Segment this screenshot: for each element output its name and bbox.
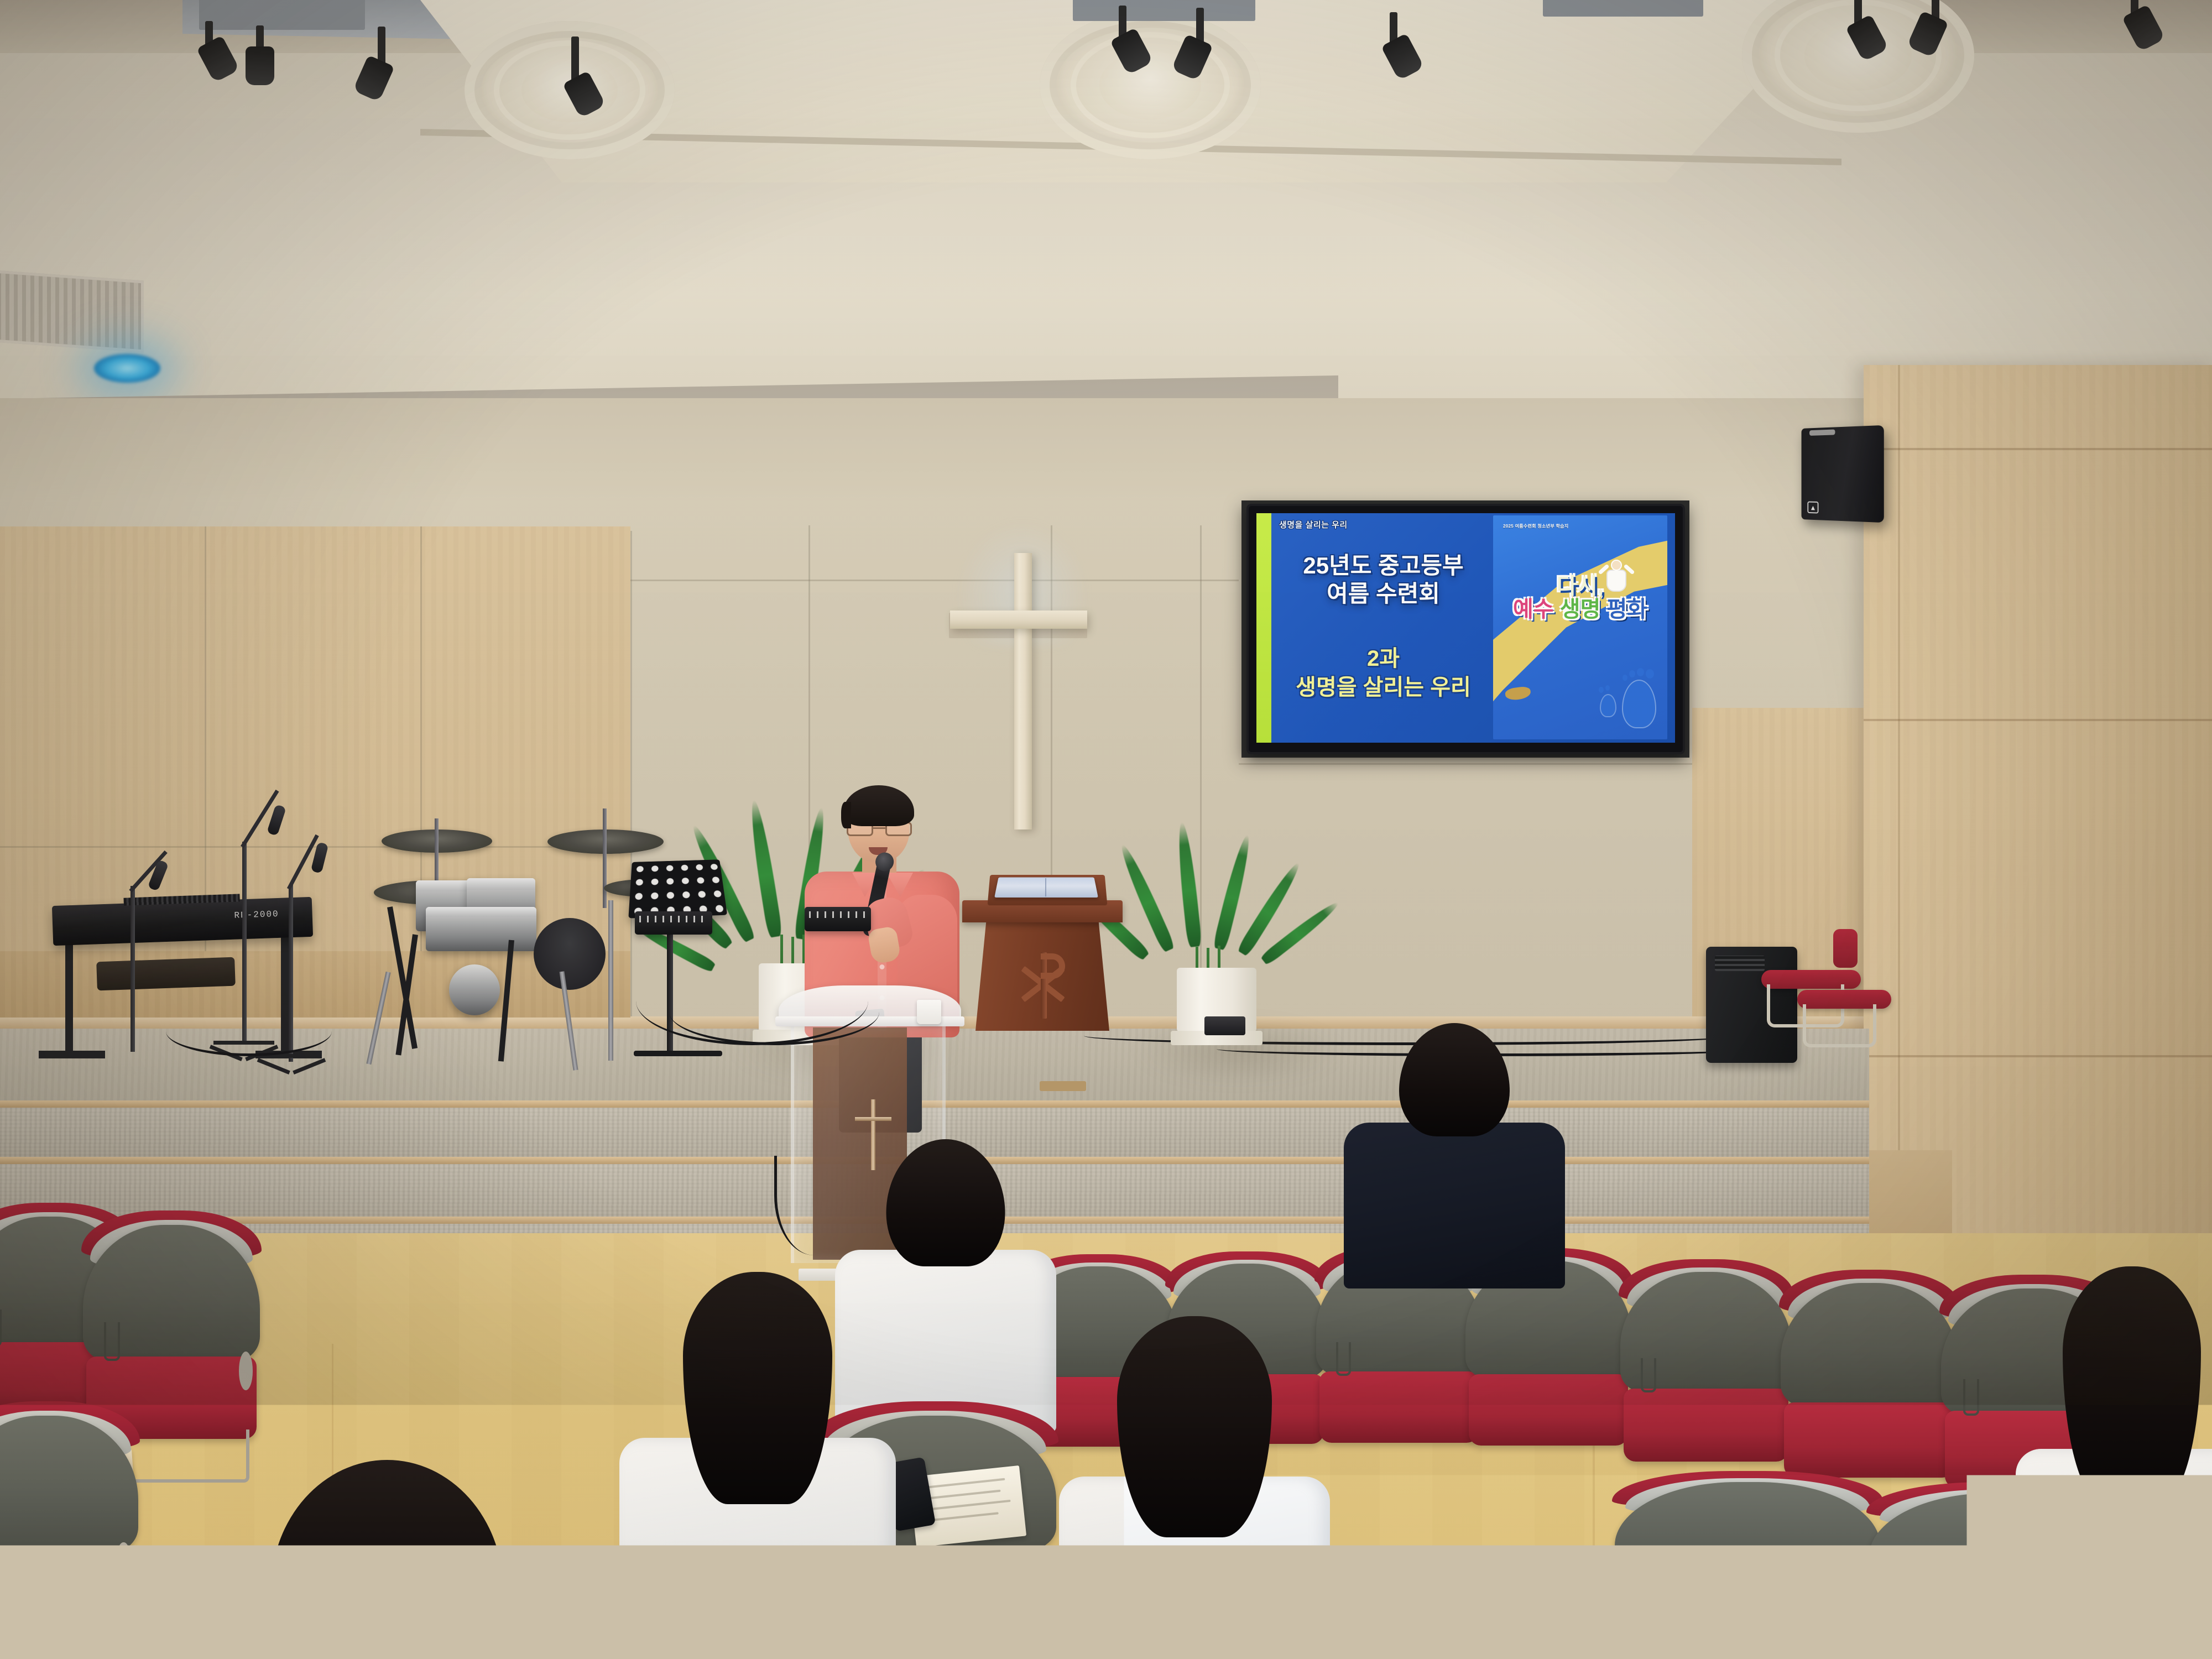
track-spotlight — [365, 27, 398, 109]
audience-person-top — [1344, 1123, 1565, 1288]
slide-title-line2: 여름 수련회 — [1327, 581, 1440, 607]
book-title-word2: 생명 — [1560, 597, 1601, 622]
floor-power-box — [1204, 1016, 1245, 1035]
cymbal-rod — [603, 808, 607, 908]
footprint-toe — [1623, 675, 1627, 681]
book-title-line1: 다시, — [1499, 575, 1662, 597]
chair-seat — [1620, 1580, 1875, 1642]
spotlight-head-icon — [246, 46, 274, 85]
audio-interface[interactable] — [805, 907, 871, 931]
footprint-sole-small — [1600, 694, 1616, 717]
footprint-illustration-icon — [1598, 664, 1658, 736]
microphone-icon — [148, 859, 169, 891]
chair-seat — [1319, 1371, 1479, 1443]
chair-hook — [1647, 1555, 1671, 1584]
book-title-word3: 평화 — [1606, 597, 1647, 622]
slide-book-cover-image: 2025 여름수련회 청소년부 학습지 다시, 예수 생명 평화 — [1493, 515, 1667, 739]
speaker-brand-logo-icon: ▲ — [1807, 502, 1818, 514]
audience-person-hair — [886, 1139, 1005, 1266]
ceiling-circular-recess-2 — [1040, 11, 1261, 159]
slide-lesson-number: 2과 — [1367, 646, 1400, 671]
footprint-toe-small — [1605, 685, 1610, 691]
chair-hook — [1963, 1379, 1980, 1416]
music-stand-base — [634, 1051, 722, 1056]
slide-lesson-title: 생명을 살리는 우리 — [1296, 675, 1471, 700]
audience-person-hair — [683, 1272, 832, 1504]
chair-pivot-knob — [239, 1352, 253, 1390]
architectural-column — [1864, 365, 2212, 1261]
open-bible — [994, 877, 1098, 898]
palm-frond — [1175, 822, 1202, 947]
track-spotlight — [243, 25, 276, 97]
slide-title: 25년도 중고등부 여름 수련회 — [1279, 551, 1493, 608]
communion-table-base — [975, 921, 1109, 1031]
mic-stand-tripod — [261, 1054, 322, 1071]
palm-frond — [747, 799, 783, 938]
microphone-stand-short — [100, 846, 166, 1056]
instrument-cable — [166, 1006, 332, 1056]
footprint-toe — [1646, 669, 1654, 679]
tee-graphic-text: THE CHOICE — [644, 1582, 872, 1621]
chair-hook — [0, 1310, 2, 1347]
track-spotlight — [1183, 8, 1217, 102]
audience-person-hair — [1117, 1316, 1272, 1537]
folding-chair — [1869, 1493, 2135, 1659]
track-light-mount-plate — [1073, 0, 1255, 21]
audience-person-the-choice-tee: THE CHOICE — [614, 1272, 901, 1659]
mixer-knob-row — [639, 916, 708, 922]
communion-table — [962, 852, 1123, 1045]
floor-tom — [426, 907, 536, 951]
mic-stand-pole — [131, 886, 135, 1052]
folding-chair — [1620, 1272, 1792, 1488]
chair-legs — [0, 1620, 127, 1659]
pulpit-paper-cup — [917, 1000, 941, 1024]
column-seam — [1864, 719, 2212, 721]
chi-rho-icon — [1012, 952, 1073, 1019]
audio-mixer[interactable] — [635, 911, 712, 935]
rho-loop — [1041, 953, 1065, 979]
cymbal-stand-leg — [608, 900, 613, 1061]
track-spotlight — [1106, 6, 1139, 94]
folding-chair — [1781, 1283, 1958, 1504]
wall-mounted-loudspeaker: ▲ — [1802, 425, 1884, 523]
stage-folding-chair — [1797, 971, 1891, 1076]
slide-eyebrow-label: 생명을 살리는 우리 — [1279, 519, 1493, 530]
column-seam-vertical — [1898, 365, 1900, 1261]
ceiling-air-vent — [0, 270, 144, 353]
floor-shadow — [111, 1593, 498, 1659]
slide-lesson-block: 2과 생명을 살리는 우리 — [1279, 644, 1493, 702]
drum-rim — [426, 907, 536, 917]
track-spotlight — [1377, 12, 1410, 95]
potted-palm-right — [1134, 791, 1300, 1045]
speaker-hair — [843, 785, 914, 826]
music-stand-plate — [628, 859, 727, 918]
track-spotlight — [1841, 0, 1875, 80]
column-seam — [1864, 448, 2212, 450]
column-seam — [1864, 1055, 2212, 1057]
interface-knob-row — [809, 911, 867, 918]
chair-frame — [1803, 1004, 1876, 1047]
electronic-drum-pad — [534, 918, 606, 990]
chair-seat — [0, 1547, 134, 1630]
audience-person-back-center — [1338, 1023, 1571, 1283]
practice-pad — [449, 964, 500, 1015]
chair-seat — [1624, 1389, 1788, 1462]
slide-left-panel: 생명을 살리는 우리 25년도 중고등부 여름 수련회 2과 생명을 살리는 우… — [1271, 513, 1493, 743]
book-cover-signature-mark — [1505, 686, 1532, 701]
pulpit-cross-horizontal — [855, 1117, 891, 1121]
audience-person-hair — [2063, 1266, 2201, 1504]
track-spotlight — [1919, 0, 1952, 77]
chair-hook — [1336, 1342, 1351, 1376]
case-vents — [1715, 956, 1765, 971]
chair-hook — [104, 1322, 120, 1361]
chair-backrest — [1833, 929, 1858, 968]
church-sanctuary-photo: 생명을 살리는 우리 25년도 중고등부 여름 수련회 2과 생명을 살리는 우… — [0, 0, 2212, 1659]
chair-pivot-knob — [116, 1542, 131, 1581]
audience-person-hair — [1399, 1023, 1510, 1136]
chair-hook — [1641, 1358, 1656, 1392]
footprint-sole — [1622, 680, 1656, 728]
track-spotlight — [559, 36, 592, 125]
cross-vertical-beam — [1014, 553, 1032, 830]
glasses-bridge — [873, 827, 885, 829]
book-title-word1: 예수 — [1513, 597, 1554, 622]
instrument-cable — [669, 979, 879, 1045]
folding-chair — [1316, 1258, 1482, 1468]
wall-seam-horizontal — [1239, 763, 1725, 765]
book-title-line2: 예수 생명 평화 — [1499, 598, 1662, 620]
shirt-button — [880, 964, 885, 969]
slide-title-line1: 25년도 중고등부 — [1303, 552, 1463, 578]
cymbal-rod — [435, 818, 439, 890]
cross-horizontal-beam — [950, 611, 1087, 629]
presentation-display[interactable]: 생명을 살리는 우리 25년도 중고등부 여름 수련회 2과 생명을 살리는 우… — [1256, 513, 1675, 743]
book-cover-title: 다시, 예수 생명 평화 — [1499, 575, 1662, 620]
track-light-mount-plate — [1543, 0, 1703, 17]
footprint-toe — [1637, 668, 1644, 676]
chair-seat — [1469, 1374, 1628, 1446]
vent-status-led-icon — [94, 354, 160, 383]
stage-vent-slot — [1040, 1081, 1086, 1091]
folding-chair — [1615, 1482, 1880, 1659]
keyboard-stand-foot — [39, 1051, 105, 1058]
speaker-handle — [1809, 429, 1835, 436]
track-spotlight — [192, 21, 226, 93]
keyboard-stand-left — [65, 933, 73, 1055]
audience-person-center-right — [1051, 1316, 1338, 1659]
folding-chair — [1465, 1261, 1631, 1471]
track-spotlight — [2118, 0, 2151, 69]
footprint-toe-small — [1599, 687, 1604, 693]
footprint-toe — [1629, 670, 1635, 677]
drum-rim — [467, 878, 535, 890]
book-cover-header: 2025 여름수련회 청소년부 학습지 — [1503, 523, 1568, 529]
booklet-line — [917, 1478, 1005, 1490]
chair-seat — [1875, 1592, 2130, 1653]
chair-seat — [1784, 1402, 1954, 1478]
figure-head — [1611, 560, 1622, 571]
slide-accent-bar — [1256, 513, 1271, 743]
